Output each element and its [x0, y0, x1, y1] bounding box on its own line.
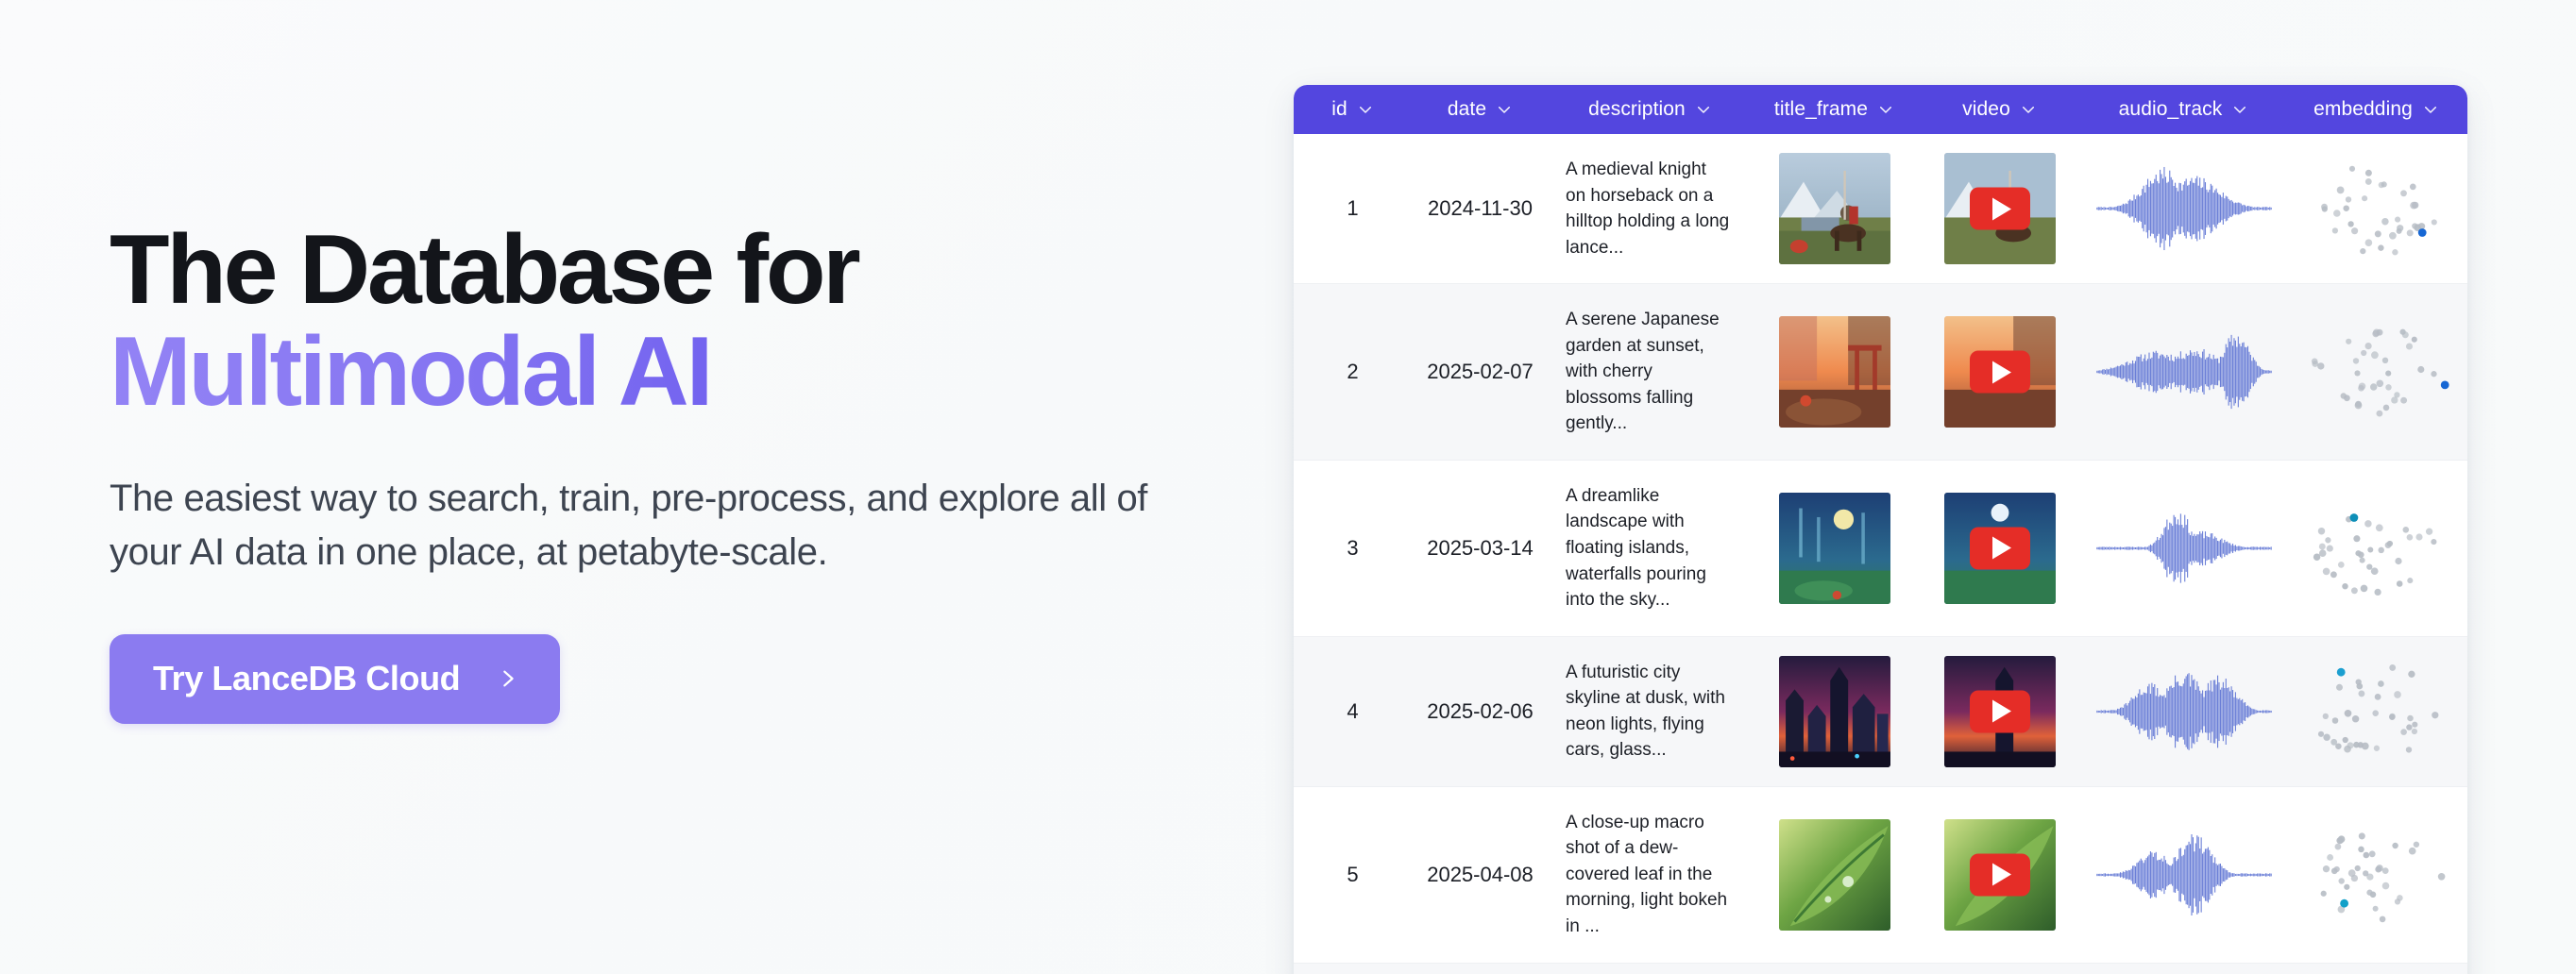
cell-title-frame[interactable] [1752, 637, 1917, 786]
cell-audio-track[interactable] [2082, 637, 2285, 786]
hero-section: The Database for Multimodal AI The easie… [110, 219, 1224, 724]
cell-date: 2024-11-30 [1412, 134, 1549, 283]
column-header-video[interactable]: video [1917, 85, 2082, 134]
table-row[interactable]: 3 2025-03-14 A dreamlike landscape with … [1294, 461, 2467, 637]
column-header-label: video [1962, 98, 2010, 121]
description-text: A medieval knight on horseback on a hill… [1556, 145, 1744, 272]
audio-waveform [2092, 830, 2277, 920]
column-header-label: date [1448, 98, 1486, 121]
column-header-label: title_frame [1774, 98, 1868, 121]
description-text: A futuristic city skyline at dusk, with … [1556, 648, 1744, 775]
hero-subtitle: The easiest way to search, train, pre-pr… [110, 472, 1177, 579]
landing-page: The Database for Multimodal AI The easie… [0, 0, 2576, 974]
headline-line-1: The Database for [110, 215, 858, 325]
japanese-garden-sunset-video[interactable] [1944, 316, 2056, 428]
table-truncation-row: ... ... ... ... [1294, 964, 2467, 974]
cell-title-frame[interactable] [1752, 284, 1917, 460]
column-header-label: audio_track [2119, 98, 2223, 121]
column-header-label: id [1331, 98, 1347, 121]
cell-description: A close-up macro shot of a dew-covered l… [1549, 787, 1752, 963]
cell-id: 2 [1294, 284, 1412, 460]
cell-id: 4 [1294, 637, 1412, 786]
cell-embedding[interactable] [2285, 637, 2467, 786]
chevron-down-icon[interactable] [1357, 101, 1374, 118]
column-header-description[interactable]: description [1549, 85, 1752, 134]
column-header-label: description [1588, 98, 1686, 121]
cell-description: A serene Japanese garden at sunset, with… [1549, 284, 1752, 460]
chevron-down-icon[interactable] [2422, 101, 2439, 118]
play-button-icon[interactable] [1970, 690, 2030, 732]
cell-embedding[interactable] [2285, 134, 2467, 283]
table-row[interactable]: 5 2025-04-08 A close-up macro shot of a … [1294, 787, 2467, 964]
audio-waveform [2092, 327, 2277, 417]
table-row[interactable]: 4 2025-02-06 A futuristic city skyline a… [1294, 637, 2467, 787]
chevron-down-icon[interactable] [2231, 101, 2248, 118]
cell-embedding[interactable] [2285, 284, 2467, 460]
knight-on-horseback-thumbnail[interactable] [1779, 153, 1890, 264]
audio-waveform [2092, 503, 2277, 594]
cell-video[interactable] [1917, 461, 2082, 636]
column-header-embedding[interactable]: embedding [2285, 85, 2467, 134]
cell-audio-track[interactable] [2082, 787, 2285, 963]
cell-date: 2025-03-14 [1412, 461, 1549, 636]
dew-covered-leaf-thumbnail[interactable] [1779, 819, 1890, 931]
audio-waveform [2092, 666, 2277, 757]
multimodal-data-table-card: id date description title_frame [1294, 85, 2467, 974]
cell-audio-track[interactable] [2082, 461, 2285, 636]
cell-title-frame[interactable] [1752, 461, 1917, 636]
futuristic-city-skyline-video[interactable] [1944, 656, 2056, 767]
cell-video[interactable] [1917, 284, 2082, 460]
cell-video[interactable] [1917, 787, 2082, 963]
embedding-scatter-plot [2296, 657, 2458, 766]
cell-date: 2025-02-07 [1412, 284, 1549, 460]
cta-label: Try LanceDB Cloud [153, 659, 460, 698]
embedding-scatter-plot [2296, 154, 2458, 263]
play-button-icon[interactable] [1970, 527, 2030, 569]
chevron-down-icon[interactable] [1877, 101, 1894, 118]
dreamlike-landscape-video[interactable] [1944, 493, 2056, 604]
play-button-icon[interactable] [1970, 853, 2030, 896]
cell-title-frame[interactable] [1752, 787, 1917, 963]
column-header-title-frame[interactable]: title_frame [1752, 85, 1917, 134]
cell-video[interactable] [1917, 134, 2082, 283]
table-body: 1 2024-11-30 A medieval knight on horseb… [1294, 134, 2467, 974]
cell-title-frame[interactable] [1752, 134, 1917, 283]
table-header-row: id date description title_frame [1294, 85, 2467, 134]
cell-audio-track[interactable] [2082, 284, 2285, 460]
cell-embedding[interactable] [2285, 787, 2467, 963]
cell-id: 1 [1294, 134, 1412, 283]
cell-id: 3 [1294, 461, 1412, 636]
cell-id: 5 [1294, 787, 1412, 963]
description-text: A close-up macro shot of a dew-covered l… [1556, 798, 1744, 951]
japanese-garden-sunset-thumbnail[interactable] [1779, 316, 1890, 428]
cell-video[interactable] [1917, 637, 2082, 786]
cell-description: A medieval knight on horseback on a hill… [1549, 134, 1752, 283]
table-row[interactable]: 2 2025-02-07 A serene Japanese garden at… [1294, 284, 2467, 461]
column-header-label: embedding [2313, 98, 2413, 121]
chevron-down-icon[interactable] [1695, 101, 1712, 118]
chevron-right-icon [498, 668, 518, 689]
embedding-scatter-plot [2296, 820, 2458, 930]
description-text: A dreamlike landscape with floating isla… [1556, 472, 1744, 625]
audio-waveform [2092, 163, 2277, 254]
embedding-scatter-plot [2296, 317, 2458, 427]
column-header-date[interactable]: date [1412, 85, 1549, 134]
chevron-down-icon[interactable] [1496, 101, 1513, 118]
column-header-audio-track[interactable]: audio_track [2082, 85, 2285, 134]
cell-date: 2025-02-06 [1412, 637, 1549, 786]
table-row[interactable]: 1 2024-11-30 A medieval knight on horseb… [1294, 134, 2467, 284]
play-button-icon[interactable] [1970, 351, 2030, 394]
cell-description: A dreamlike landscape with floating isla… [1549, 461, 1752, 636]
play-button-icon[interactable] [1970, 188, 2030, 230]
cell-description: A futuristic city skyline at dusk, with … [1549, 637, 1752, 786]
description-text: A serene Japanese garden at sunset, with… [1556, 295, 1744, 448]
cell-audio-track[interactable] [2082, 134, 2285, 283]
page-title: The Database for Multimodal AI [110, 219, 1224, 423]
embedding-scatter-plot [2296, 494, 2458, 603]
futuristic-city-skyline-thumbnail[interactable] [1779, 656, 1890, 767]
cell-date: 2025-04-08 [1412, 787, 1549, 963]
column-header-id[interactable]: id [1294, 85, 1412, 134]
chevron-down-icon[interactable] [2020, 101, 2037, 118]
try-lancedb-cloud-button[interactable]: Try LanceDB Cloud [110, 634, 560, 724]
cell-embedding[interactable] [2285, 461, 2467, 636]
headline-line-2: Multimodal AI [110, 321, 1224, 423]
knight-on-horseback-video[interactable] [1944, 153, 2056, 264]
dew-covered-leaf-video[interactable] [1944, 819, 2056, 931]
dreamlike-landscape-thumbnail[interactable] [1779, 493, 1890, 604]
